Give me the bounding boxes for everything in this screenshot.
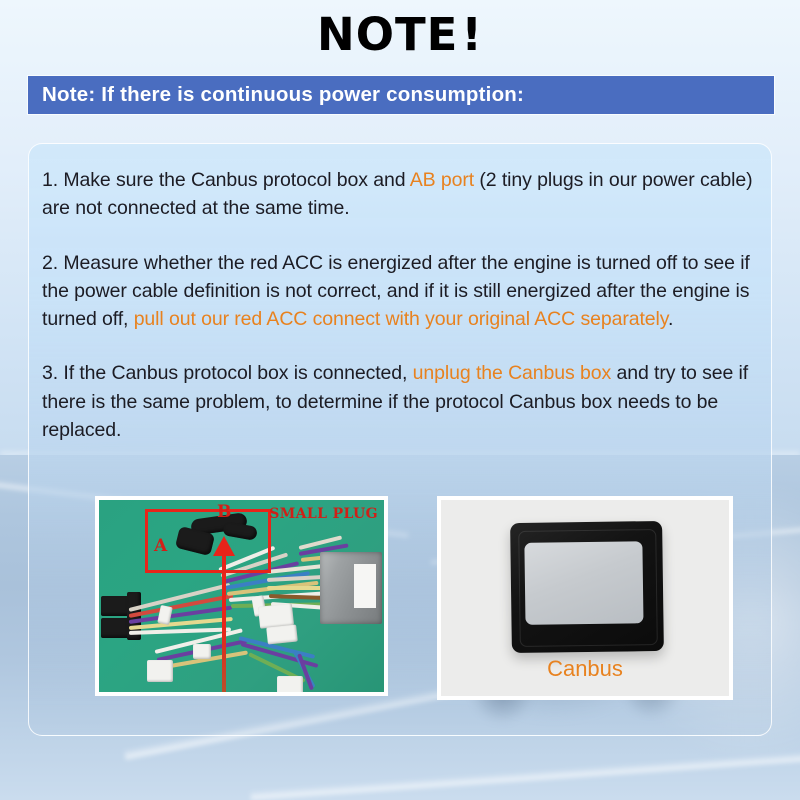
page-title-text: NOTE [317,8,458,61]
page-title: NOTE! [0,8,800,61]
page-title-exclamation: ! [461,8,483,61]
canbus-device [510,521,664,653]
white-connector [147,660,173,682]
note-header-bar: Note: If there is continuous power consu… [28,76,774,114]
road-lane-marking [250,749,800,800]
instruction-list: 1. Make sure the Canbus protocol box and… [42,166,762,444]
canbus-device-label [524,541,643,625]
instruction-item-2: 2. Measure whether the red ACC is energi… [42,249,762,334]
instruction-item-1: 1. Make sure the Canbus protocol box and… [42,166,762,223]
red-arrow-head [213,536,235,556]
instruction-2-highlight: pull out our red ACC connect with your o… [134,308,668,330]
harness-photo-content: A B SMALL PLUG [99,500,384,692]
canbus-box-photo: Canbus [437,496,733,700]
canbus-caption: Canbus [441,656,729,682]
label-b: B [217,502,231,522]
instruction-3-part-1: 3. If the Canbus protocol box is connect… [42,362,413,384]
white-connector [277,676,303,696]
silver-module-box [320,552,382,624]
label-a: A [154,536,167,556]
wiring-harness-photo: A B SMALL PLUG [95,496,388,696]
instruction-2-part-2: . [668,308,673,330]
small-plug-label: SMALL PLUG [269,506,378,522]
instruction-3-highlight: unplug the Canbus box [413,362,611,384]
note-page: NOTE! Note: If there is continuous power… [0,0,800,800]
instruction-item-3: 3. If the Canbus protocol box is connect… [42,359,762,444]
instruction-1-part-1: 1. Make sure the Canbus protocol box and [42,169,410,191]
white-connector [266,624,298,644]
red-arrow-shaft [222,545,226,695]
note-header-text: Note: If there is continuous power consu… [28,83,524,107]
white-connector [193,644,211,659]
module-sticker [354,564,376,608]
instruction-1-highlight: AB port [410,169,474,191]
